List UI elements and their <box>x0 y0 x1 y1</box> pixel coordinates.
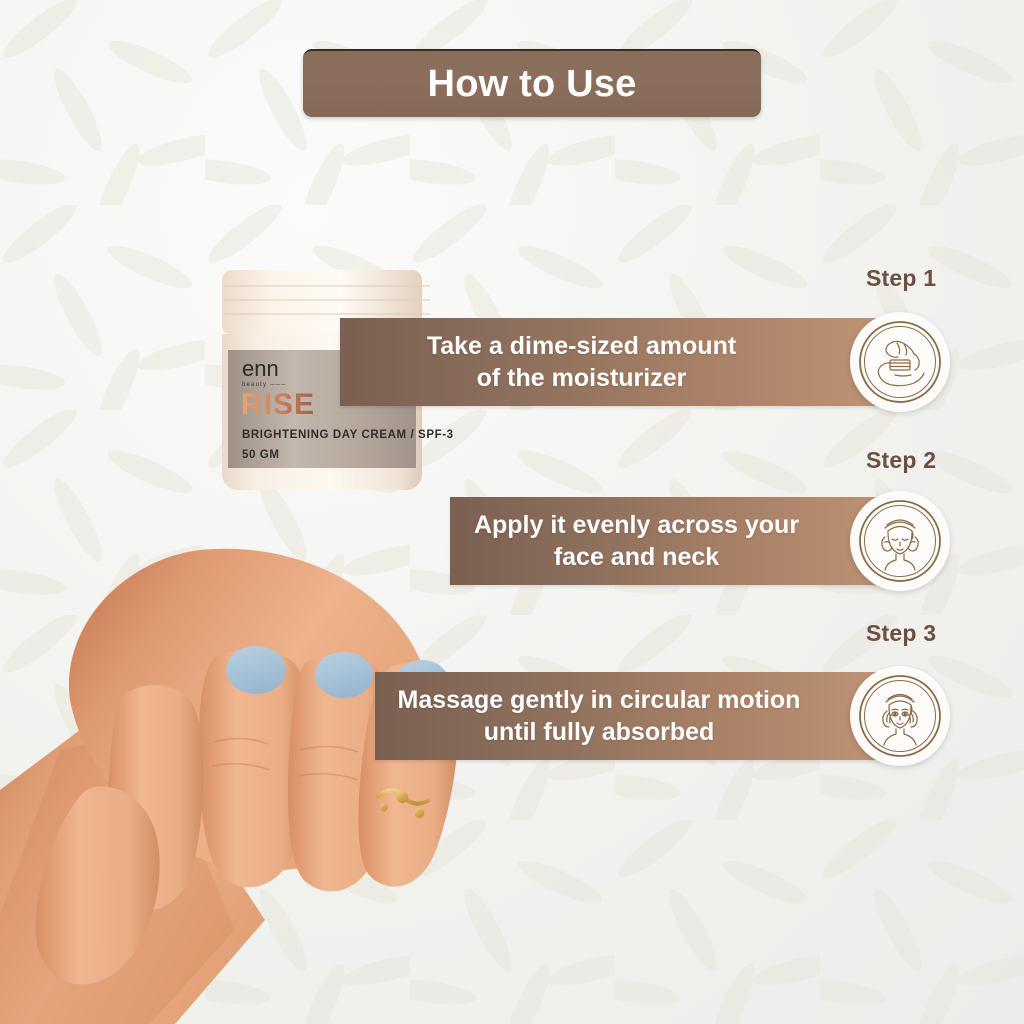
page-title: How to Use <box>428 65 637 103</box>
step-3-label: Step 3 <box>866 620 936 647</box>
product-name: RISE <box>241 388 315 421</box>
step-2-line-2: face and neck <box>554 543 719 571</box>
face-apply-cream-icon <box>850 491 950 591</box>
brand-name: enn <box>242 356 279 381</box>
step-2-label: Step 2 <box>866 447 936 474</box>
step-1-label: Step 1 <box>866 265 936 292</box>
step-2-line-1: Apply it evenly across your <box>474 511 799 539</box>
step-3-bar: Massage gently in circular motion until … <box>375 672 910 760</box>
step-1-line-1: Take a dime-sized amount <box>427 332 736 360</box>
step-3-text: Massage gently in circular motion until … <box>375 684 910 748</box>
fingernail <box>315 652 373 698</box>
header-banner: How to Use <box>303 49 761 117</box>
face-massage-icon <box>850 666 950 766</box>
step-2-text: Apply it evenly across your face and nec… <box>450 509 910 573</box>
step-3-line-1: Massage gently in circular motion <box>398 686 801 714</box>
fingernail <box>226 646 286 694</box>
product-size: 50 GM <box>242 449 280 461</box>
step-1-line-2: of the moisturizer <box>477 364 687 392</box>
hand-holding-jar-icon <box>850 312 950 412</box>
step-3-line-2: until fully absorbed <box>484 718 715 746</box>
step-1-bar: Take a dime-sized amount of the moisturi… <box>340 318 910 406</box>
product-description: BRIGHTENING DAY CREAM / SPF-3 <box>242 429 454 441</box>
step-1-text: Take a dime-sized amount of the moisturi… <box>340 330 910 394</box>
step-2-bar: Apply it evenly across your face and nec… <box>450 497 910 585</box>
